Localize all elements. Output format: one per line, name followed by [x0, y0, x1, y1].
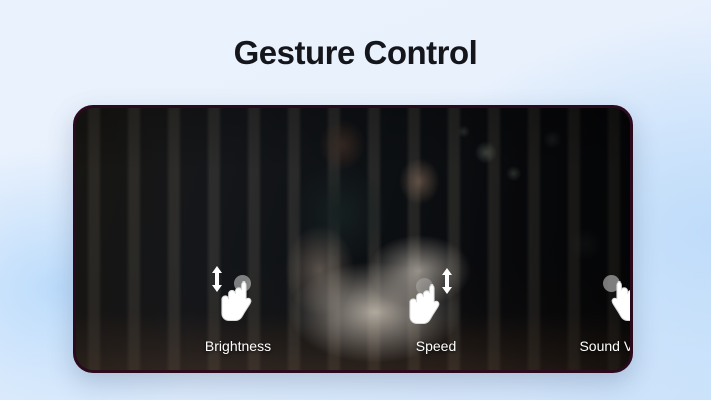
video-still-image [76, 108, 630, 370]
video-player-card[interactable]: Brightness Speed [73, 105, 633, 373]
gesture-zoom-and-pan-glyphs [311, 366, 401, 373]
hand-swipe-vertical-icon [404, 282, 442, 326]
double-arrow-vertical-icon [440, 268, 454, 294]
gesture-sound-volume-label: Sound Volume [579, 338, 633, 354]
app-root: Gesture Control Brightness [0, 0, 711, 400]
gesture-brightness-glyphs [206, 266, 270, 328]
hand-swipe-vertical-icon [609, 279, 633, 323]
gesture-speed-glyphs [396, 266, 460, 328]
zoom-frame-icon [313, 370, 369, 373]
page-title: Gesture Control [0, 34, 711, 72]
gesture-brightness-label: Brightness [205, 338, 271, 354]
gesture-sound-volume-glyphs [595, 266, 633, 328]
hand-swipe-vertical-icon [216, 279, 254, 323]
gesture-speed-label: Speed [416, 338, 456, 354]
